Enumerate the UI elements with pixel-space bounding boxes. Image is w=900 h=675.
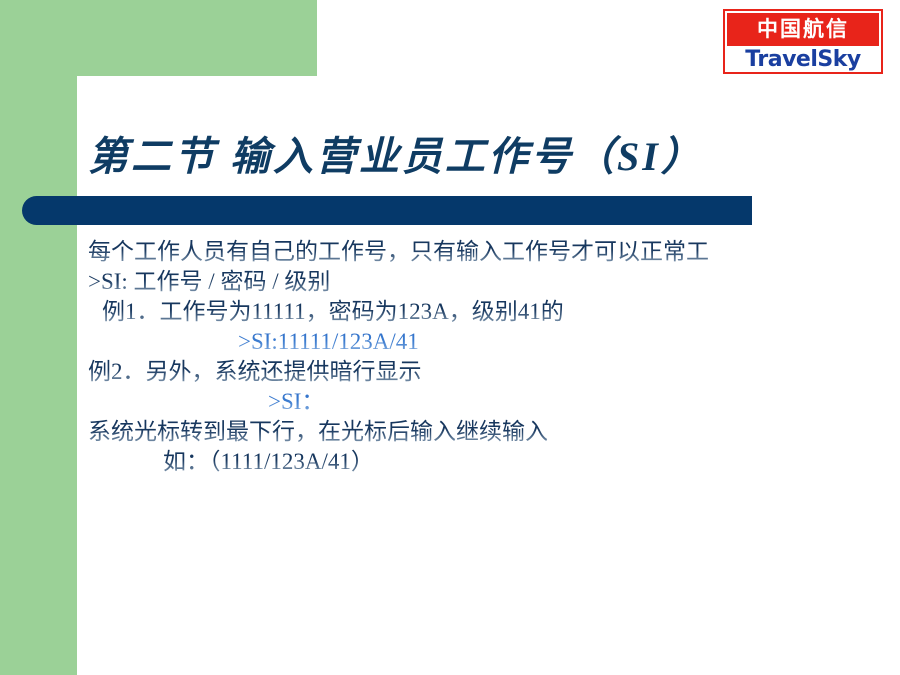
body-line: 例1．工作号为11111，密码为123A，级别41的: [88, 297, 888, 327]
body-line-command: >SI:11111/123A/41: [88, 327, 888, 357]
body-line: >SI: 工作号 / 密码 / 级别: [88, 267, 888, 297]
body-line-example-value: （1111/123A/41）: [209, 449, 374, 474]
body-line: 系统光标转到最下行，在光标后输入继续输入: [88, 417, 888, 447]
green-top-band-decoration: [0, 0, 317, 76]
body-line-example-prefix: 如：: [163, 449, 209, 474]
slide-body-text: 每个工作人员有自己的工作号，只有输入工作号才可以正常工 >SI: 工作号 / 密…: [88, 237, 888, 477]
logo-english-text: TravelSky: [745, 49, 860, 71]
body-line: 例2．另外，系统还提供暗行显示: [88, 357, 888, 387]
green-left-column-decoration: [0, 0, 77, 675]
logo-chinese-band: 中国航信: [727, 13, 879, 46]
body-line-command: >SI：: [88, 387, 888, 417]
body-line-example: 如：（1111/123A/41）: [88, 447, 888, 477]
travelsky-logo: 中国航信 TravelSky: [723, 9, 883, 74]
presentation-slide: 中国航信 TravelSky 第二节 输入营业员工作号（SI） 每个工作人员有自…: [0, 0, 900, 675]
slide-title: 第二节 输入营业员工作号（SI）: [88, 121, 878, 185]
navy-title-underline-bar: [22, 196, 752, 225]
body-line: 每个工作人员有自己的工作号，只有输入工作号才可以正常工: [88, 237, 888, 267]
logo-english-band: TravelSky: [725, 47, 881, 73]
logo-chinese-text: 中国航信: [757, 19, 849, 40]
